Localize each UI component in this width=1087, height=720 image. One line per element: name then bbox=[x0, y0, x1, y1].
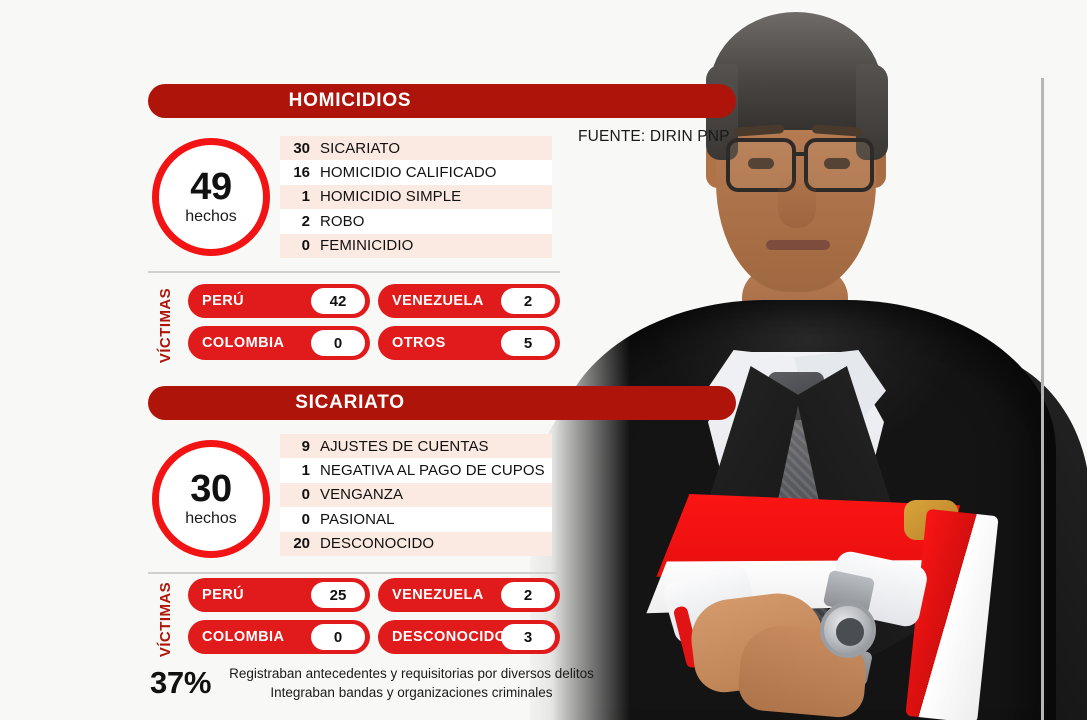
victims-pill: VENEZUELA 2 bbox=[378, 578, 560, 612]
wristwatch bbox=[820, 602, 876, 658]
breakdown-row: 2 ROBO bbox=[280, 209, 552, 233]
eyeglasses-lens-right bbox=[804, 138, 874, 192]
total-circle-sicariato: 30 hechos bbox=[152, 440, 270, 558]
breakdown-row: 0 FEMINICIDIO bbox=[280, 234, 552, 258]
total-caption-homicidios: hechos bbox=[185, 208, 237, 226]
victims-country: COLOMBIA bbox=[202, 335, 284, 351]
victims-count: 2 bbox=[501, 288, 555, 314]
total-value-sicariato: 30 bbox=[190, 470, 232, 508]
victims-pill: PERÚ 42 bbox=[188, 284, 370, 318]
source-note: FUENTE: DIRIN PNP bbox=[578, 128, 730, 146]
nose bbox=[778, 176, 816, 228]
victims-axis-text: VÍCTIMAS bbox=[158, 287, 175, 362]
breakdown-count: 16 bbox=[280, 164, 320, 181]
victims-pill: COLOMBIA 0 bbox=[188, 620, 370, 654]
victims-country: DESCONOCIDO bbox=[392, 629, 506, 645]
section-divider bbox=[148, 271, 560, 273]
breakdown-row: 0 VENGANZA bbox=[280, 483, 552, 507]
victims-pill: OTROS 5 bbox=[378, 326, 560, 360]
footer-note: 37% Registraban antecedentes y requisito… bbox=[150, 664, 594, 702]
victims-axis-text: VÍCTIMAS bbox=[158, 581, 175, 656]
right-vertical-rule bbox=[1041, 78, 1044, 720]
breakdown-count: 1 bbox=[280, 188, 320, 205]
breakdown-count: 0 bbox=[280, 511, 320, 528]
breakdown-count: 0 bbox=[280, 486, 320, 503]
breakdown-label: FEMINICIDIO bbox=[320, 237, 413, 254]
section-title-sicariato: SICARIATO bbox=[148, 386, 552, 420]
breakdown-count: 30 bbox=[280, 140, 320, 157]
breakdown-label: NEGATIVA AL PAGO DE CUPOS bbox=[320, 462, 545, 479]
breakdown-row: 1 HOMICIDIO SIMPLE bbox=[280, 185, 552, 209]
breakdown-list-sicariato: 9 AJUSTES DE CUENTAS 1 NEGATIVA AL PAGO … bbox=[280, 434, 552, 556]
victims-count: 2 bbox=[501, 582, 555, 608]
breakdown-list-homicidios: 30 SICARIATO 16 HOMICIDIO CALIFICADO 1 H… bbox=[280, 136, 552, 258]
section-header-homicidios: HOMICIDIOS bbox=[148, 84, 736, 118]
breakdown-count: 0 bbox=[280, 237, 320, 254]
breakdown-label: DESCONOCIDO bbox=[320, 535, 434, 552]
section-title-homicidios: HOMICIDIOS bbox=[148, 84, 552, 118]
breakdown-count: 1 bbox=[280, 462, 320, 479]
victims-count: 3 bbox=[501, 624, 555, 650]
total-caption-sicariato: hechos bbox=[185, 510, 237, 528]
breakdown-count: 20 bbox=[280, 535, 320, 552]
eyeglasses-bridge bbox=[794, 152, 808, 156]
victims-count: 5 bbox=[501, 330, 555, 356]
victims-pill: COLOMBIA 0 bbox=[188, 326, 370, 360]
victims-pill: PERÚ 25 bbox=[188, 578, 370, 612]
breakdown-count: 9 bbox=[280, 438, 320, 455]
victims-grid: PERÚ 42 VENEZUELA 2 COLOMBIA 0 OTROS 5 bbox=[188, 284, 560, 360]
breakdown-label: PASIONAL bbox=[320, 511, 395, 528]
footer-line-1: Registraban antecedentes y requisitorias… bbox=[229, 664, 594, 683]
wristwatch-dial bbox=[836, 618, 864, 646]
total-value-homicidios: 49 bbox=[190, 168, 232, 206]
victims-block-homicidios: VÍCTIMAS PERÚ 42 VENEZUELA 2 COLOMBIA 0 … bbox=[150, 284, 560, 360]
breakdown-row: 0 PASIONAL bbox=[280, 507, 552, 531]
footer-line-2: Integraban bandas y organizaciones crimi… bbox=[229, 683, 594, 702]
victims-country: PERÚ bbox=[202, 587, 244, 603]
victims-count: 25 bbox=[311, 582, 365, 608]
victims-country: VENEZUELA bbox=[392, 587, 484, 603]
section-header-sicariato: SICARIATO bbox=[148, 386, 736, 420]
footer-percent: 37% bbox=[150, 665, 211, 701]
breakdown-row: 16 HOMICIDIO CALIFICADO bbox=[280, 160, 552, 184]
breakdown-label: HOMICIDIO CALIFICADO bbox=[320, 164, 497, 181]
victims-pill: VENEZUELA 2 bbox=[378, 284, 560, 318]
breakdown-row: 1 NEGATIVA AL PAGO DE CUPOS bbox=[280, 458, 552, 482]
infographic-canvas: HOMICIDIOS FUENTE: DIRIN PNP 49 hechos 3… bbox=[0, 0, 1087, 720]
victims-axis-label-homicidios: VÍCTIMAS bbox=[154, 284, 178, 366]
breakdown-row: 9 AJUSTES DE CUENTAS bbox=[280, 434, 552, 458]
victims-country: VENEZUELA bbox=[392, 293, 484, 309]
breakdown-row: 30 SICARIATO bbox=[280, 136, 552, 160]
breakdown-label: AJUSTES DE CUENTAS bbox=[320, 438, 489, 455]
victims-country: PERÚ bbox=[202, 293, 244, 309]
breakdown-count: 2 bbox=[280, 213, 320, 230]
breakdown-label: VENGANZA bbox=[320, 486, 403, 503]
breakdown-row: 20 DESCONOCIDO bbox=[280, 532, 552, 556]
victims-count: 42 bbox=[311, 288, 365, 314]
victims-count: 0 bbox=[311, 330, 365, 356]
breakdown-label: SICARIATO bbox=[320, 140, 400, 157]
total-circle-homicidios: 49 hechos bbox=[152, 138, 270, 256]
victims-block-sicariato: VÍCTIMAS PERÚ 25 VENEZUELA 2 COLOMBIA 0 … bbox=[150, 578, 560, 654]
breakdown-label: ROBO bbox=[320, 213, 364, 230]
footer-text: Registraban antecedentes y requisitorias… bbox=[229, 664, 594, 702]
mouth bbox=[766, 240, 830, 250]
breakdown-label: HOMICIDIO SIMPLE bbox=[320, 188, 461, 205]
victims-country: OTROS bbox=[392, 335, 446, 351]
victims-country: COLOMBIA bbox=[202, 629, 284, 645]
victims-grid: PERÚ 25 VENEZUELA 2 COLOMBIA 0 DESCONOCI… bbox=[188, 578, 560, 654]
victims-pill: DESCONOCIDO 3 bbox=[378, 620, 560, 654]
section-divider bbox=[148, 572, 560, 574]
statistics-panel: HOMICIDIOS FUENTE: DIRIN PNP 49 hechos 3… bbox=[0, 0, 620, 720]
victims-count: 0 bbox=[311, 624, 365, 650]
victims-axis-label-sicariato: VÍCTIMAS bbox=[154, 578, 178, 660]
